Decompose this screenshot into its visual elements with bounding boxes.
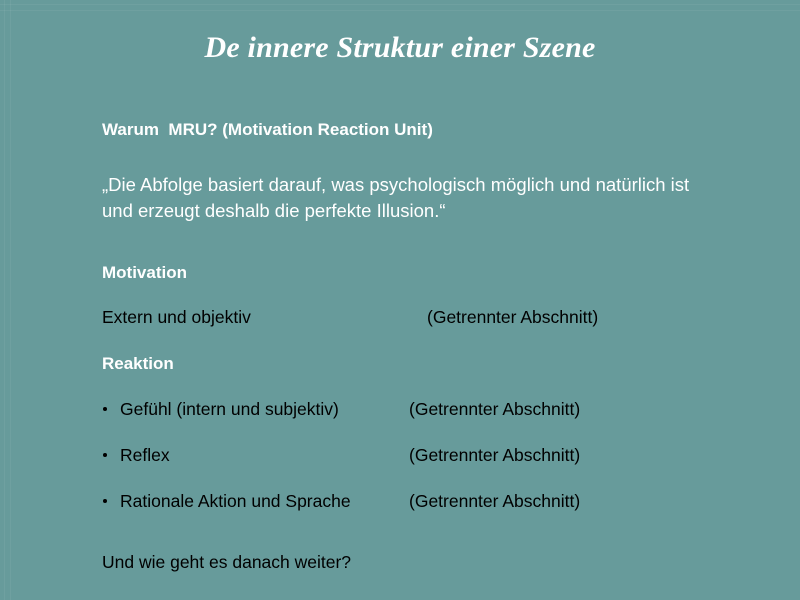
reaktion-bullet-row: Gefühl (intern und subjektiv) (Getrennte… [102,398,762,421]
reaktion-bullet-note: (Getrennter Abschnitt) [409,490,580,513]
slide-frame-line [4,0,5,600]
reaktion-bullet-label: Reflex [120,444,170,467]
reaktion-bullet-label: Rationale Aktion und Sprache [120,490,351,513]
slide-title: De innere Struktur einer Szene [0,29,800,67]
slide-frame-line [0,10,800,11]
slide-canvas: De innere Struktur einer Szene Warum MRU… [0,0,800,600]
reaktion-bullet-row: Reflex (Getrennter Abschnitt) [102,444,762,467]
reaktion-heading: Reaktion [102,352,174,375]
bullet-icon [103,407,107,411]
slide-frame-line [0,4,800,5]
motivation-row: Extern und objektiv (Getrennter Abschnit… [102,306,762,329]
closing-question: Und wie geht es danach weiter? [102,551,351,574]
question-heading: Warum MRU? (Motivation Reaction Unit) [102,118,433,141]
bullet-icon [103,499,107,503]
reaktion-bullet-note: (Getrennter Abschnitt) [409,444,580,467]
slide-frame-line [10,0,11,600]
motivation-heading: Motivation [102,261,187,284]
quote-text: „Die Abfolge basiert darauf, was psychol… [102,172,714,224]
motivation-row-label: Extern und objektiv [102,306,251,329]
reaktion-bullet-note: (Getrennter Abschnitt) [409,398,580,421]
reaktion-bullet-row: Rationale Aktion und Sprache (Getrennter… [102,490,762,513]
motivation-row-note: (Getrennter Abschnitt) [427,306,598,329]
reaktion-bullet-label: Gefühl (intern und subjektiv) [120,398,339,421]
bullet-icon [103,453,107,457]
